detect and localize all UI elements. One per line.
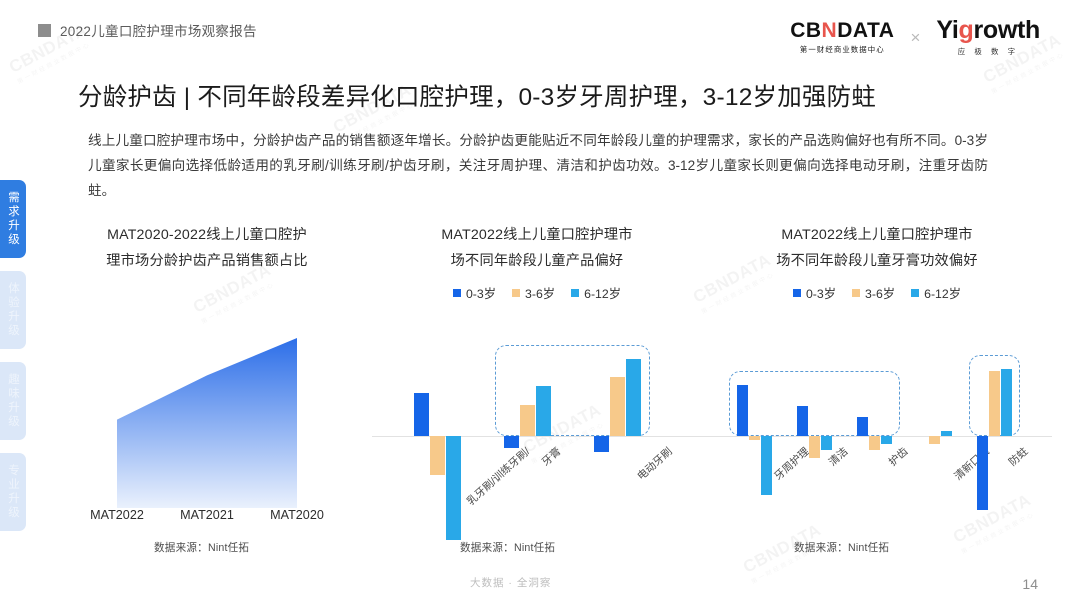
bar — [809, 436, 820, 458]
bar — [536, 386, 551, 436]
sidebar-item-experience[interactable]: 体验升级 — [0, 271, 26, 349]
bar — [869, 436, 880, 450]
chart-source: 数据来源：Nint任拓 — [460, 540, 555, 555]
bar — [446, 436, 461, 540]
sidebar-item-demand[interactable]: 需求升级 — [0, 180, 26, 258]
bar — [761, 436, 772, 495]
cross-icon: × — [910, 28, 920, 48]
sidebar-item-label: 专业升级 — [5, 464, 21, 520]
bar — [414, 393, 429, 436]
sidebar: 需求升级 体验升级 趣味升级 专业升级 — [0, 180, 26, 544]
chart-source: 数据来源：Nint任拓 — [154, 540, 249, 555]
sidebar-item-professional[interactable]: 专业升级 — [0, 453, 26, 531]
bar — [749, 436, 760, 440]
chart-toothpaste-efficacy: MAT2022线上儿童口腔护理市 场不同年龄段儿童牙膏功效偏好 0-3岁 3-6… — [702, 222, 1052, 586]
bar — [594, 436, 609, 452]
cbndata-subtitle: 第一财经商业数据中心 — [790, 44, 894, 55]
chart-product-preference: MAT2022线上儿童口腔护理市 场不同年龄段儿童产品偏好 0-3岁 3-6岁 … — [372, 222, 702, 586]
bar — [881, 436, 892, 444]
bar — [977, 436, 988, 510]
chart-source: 数据来源：Nint任拓 — [794, 540, 889, 555]
page-body-text: 线上儿童口腔护理市场中，分龄护齿产品的销售额逐年增长。分龄护齿更能贴近不同年龄段… — [88, 128, 988, 203]
bar — [857, 417, 868, 436]
zero-axis-line — [372, 436, 702, 437]
sidebar-item-label: 体验升级 — [5, 282, 21, 338]
header-square-icon — [38, 24, 51, 37]
bar — [430, 436, 445, 475]
sidebar-item-label: 需求升级 — [5, 191, 21, 247]
slide-page: CBNDATA第一财经商业数据中心 CBNDATA第一财经商业数据中心 CBND… — [0, 0, 1080, 608]
legend-swatch-icon — [512, 289, 520, 297]
bar — [610, 377, 625, 436]
chart-title: MAT2022线上儿童口腔护理市 场不同年龄段儿童牙膏功效偏好 — [702, 222, 1052, 274]
bar — [737, 385, 748, 436]
legend-swatch-icon — [453, 289, 461, 297]
category-label: 牙周护理 — [771, 444, 813, 484]
charts-row: MAT2020-2022线上儿童口腔护 理市场分龄护齿产品销售额占比 MAT20… — [42, 222, 1062, 586]
x-tick-label: MAT2020 — [252, 508, 342, 522]
yigrowth-subtitle: 应 极 数 字 — [936, 46, 1040, 57]
bar — [520, 405, 535, 436]
sidebar-item-fun[interactable]: 趣味升级 — [0, 362, 26, 440]
legend-label: 3-6岁 — [865, 284, 895, 302]
category-label: 电动牙刷 — [634, 444, 676, 484]
chart-area-sales-share: MAT2020-2022线上儿童口腔护 理市场分龄护齿产品销售额占比 MAT20… — [42, 222, 372, 586]
x-tick-label: MAT2021 — [162, 508, 252, 522]
legend-item: 0-3岁 — [453, 284, 496, 302]
chart-legend: 0-3岁 3-6岁 6-12岁 — [702, 284, 1052, 302]
legend-item: 3-6岁 — [852, 284, 895, 302]
legend-item: 0-3岁 — [793, 284, 836, 302]
bar — [941, 431, 952, 436]
chart-legend: 0-3岁 3-6岁 6-12岁 — [372, 284, 702, 302]
page-number: 14 — [1022, 576, 1038, 592]
yigrowth-logo: Yigrowth 应 极 数 字 — [936, 18, 1040, 57]
bar — [989, 371, 1000, 436]
legend-label: 6-12岁 — [924, 284, 961, 302]
category-label: 防蛀 — [1005, 444, 1031, 469]
legend-label: 0-3岁 — [466, 284, 496, 302]
document-header: 2022儿童口腔护理市场观察报告 — [38, 20, 257, 40]
bar — [821, 436, 832, 450]
chart-title: MAT2022线上儿童口腔护理市 场不同年龄段儿童产品偏好 — [372, 222, 702, 274]
legend-item: 6-12岁 — [911, 284, 961, 302]
legend-swatch-icon — [793, 289, 801, 297]
report-title-label: 2022儿童口腔护理市场观察报告 — [60, 20, 257, 40]
bar — [626, 359, 641, 437]
bar — [929, 436, 940, 444]
category-label: 牙膏 — [538, 444, 564, 469]
footer-tagline: 大数据 · 全洞察 — [470, 575, 551, 590]
legend-swatch-icon — [571, 289, 579, 297]
brand-lockup: CBNDATA 第一财经商业数据中心 × Yigrowth 应 极 数 字 — [790, 18, 1040, 57]
legend-item: 3-6岁 — [512, 284, 555, 302]
category-label: 乳牙刷/训练牙刷/ — [464, 444, 534, 509]
chart-title: MAT2020-2022线上儿童口腔护 理市场分龄护齿产品销售额占比 — [42, 222, 372, 274]
sidebar-item-label: 趣味升级 — [5, 373, 21, 429]
legend-swatch-icon — [911, 289, 919, 297]
yigrowth-wordmark: Yigrowth — [936, 18, 1040, 43]
x-tick-label: MAT2022 — [72, 508, 162, 522]
legend-label: 0-3岁 — [806, 284, 836, 302]
legend-item: 6-12岁 — [571, 284, 621, 302]
category-label: 护齿 — [885, 444, 911, 469]
legend-label: 6-12岁 — [584, 284, 621, 302]
cbndata-logo: CBNDATA 第一财经商业数据中心 — [790, 20, 894, 55]
page-title: 分龄护齿 | 不同年龄段差异化口腔护理，0-3岁牙周护理，3-12岁加强防蛀 — [78, 78, 1038, 113]
highlight-box — [729, 371, 900, 436]
area-chart-svg — [72, 316, 342, 508]
bar — [1001, 369, 1012, 437]
bar — [797, 406, 808, 436]
area-x-axis: MAT2022 MAT2021 MAT2020 — [72, 508, 342, 522]
bar — [504, 436, 519, 448]
legend-swatch-icon — [852, 289, 860, 297]
legend-label: 3-6岁 — [525, 284, 555, 302]
cbndata-wordmark: CBNDATA — [790, 20, 894, 41]
area-plot: MAT2022 MAT2021 MAT2020 — [72, 316, 342, 506]
